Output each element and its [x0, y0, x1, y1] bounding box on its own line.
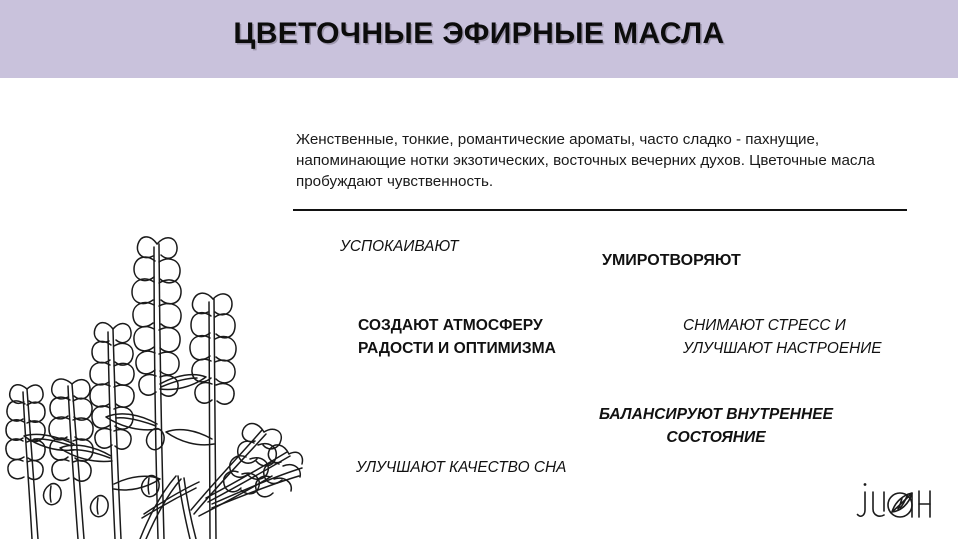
juah-logo [856, 478, 932, 526]
benefit-sleep: УЛУЧШАЮТ КАЧЕСТВО СНА [356, 457, 566, 479]
page-title: ЦВЕТОЧНЫЕ ЭФИРНЫЕ МАСЛА [0, 17, 958, 51]
intro-paragraph: Женственные, тонкие, романтические арома… [296, 129, 910, 192]
section-divider [293, 209, 907, 211]
benefit-calm: УСПОКАИВАЮТ [340, 236, 459, 258]
lavender-illustration [0, 84, 304, 539]
slide: ЦВЕТОЧНЫЕ ЭФИРНЫЕ МАСЛА [0, 0, 958, 539]
benefit-peace: УМИРОТВОРЯЮТ [602, 250, 741, 272]
benefit-joy: СОЗДАЮТ АТМОСФЕРУ РАДОСТИ И ОПТИМИЗМА [358, 314, 556, 360]
benefit-balance: БАЛАНСИРУЮТ ВНУТРЕННЕЕ СОСТОЯНИЕ [556, 403, 876, 449]
benefit-stress: СНИМАЮТ СТРЕСС И УЛУЧШАЮТ НАСТРОЕНИЕ [683, 314, 881, 360]
